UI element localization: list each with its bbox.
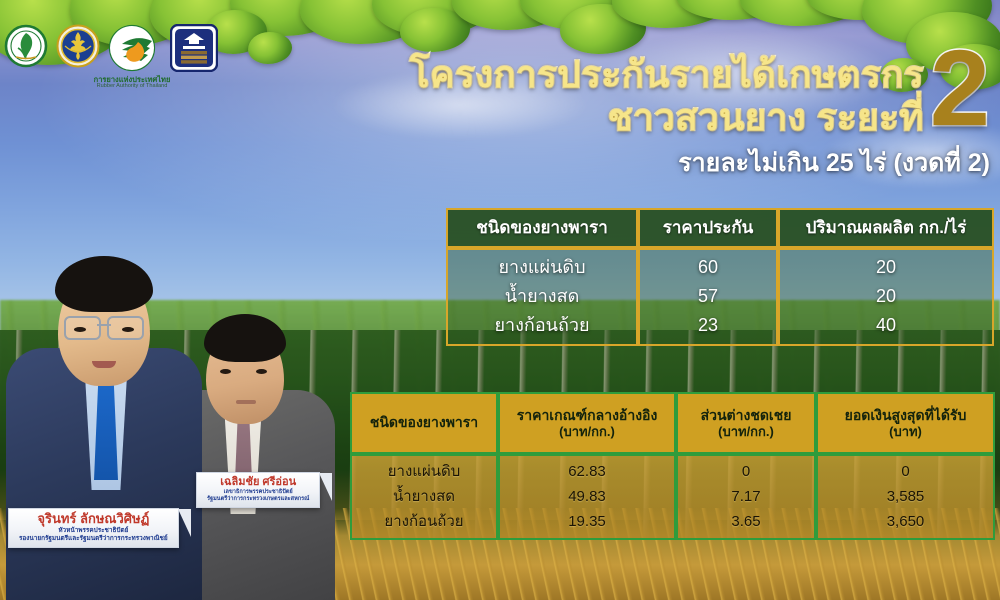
table-cell: 19.35 (568, 513, 606, 531)
table-cell: 20 (876, 286, 896, 308)
header-line-1: ราคาเกณฑ์กลางอ้างอิง (517, 407, 658, 424)
table-cell: ยางก้อนถ้วย (494, 315, 589, 337)
headline-line-1: โครงการประกันรายได้เกษตรกร (410, 54, 924, 95)
headline-line-2: ชาวสวนยาง ระยะที่ (608, 97, 924, 138)
baac-bank-logo (170, 24, 218, 72)
header-line-1: ชนิดของยางพารา (370, 414, 478, 431)
table1-col-type: ยางแผ่นดิบ น้ำยางสด ยางก้อนถ้วย (446, 248, 638, 346)
table-cell: 62.83 (568, 463, 606, 481)
table1-col-price: 60 57 23 (638, 248, 778, 346)
table1-header-type: ชนิดของยางพารา (446, 208, 638, 248)
rubber-authority-logo: การยางแห่งประเทศไทย Rubber Authority of … (108, 24, 156, 72)
table-cell: 40 (876, 315, 896, 337)
official-role-line-2: รัฐมนตรีว่าการกระทรวงเกษตรและสหกรณ์ (207, 496, 309, 503)
header-line-2: (บาท) (889, 424, 922, 440)
headline-subtitle: รายละไม่เกิน 25 ไร่ (งวดที่ 2) (410, 143, 990, 183)
header-line-1: ส่วนต่างชดเชย (701, 407, 792, 424)
nameplate-chalermchai: เฉลิมชัย ศรีอ่อน เลขาธิการพรรคประชาธิปัต… (196, 472, 320, 508)
table-body: ยางแผ่นดิบ น้ำยางสด ยางก้อนถ้วย 60 57 23… (446, 248, 994, 346)
table-cell: น้ำยางสด (393, 488, 455, 506)
table1-col-yield: 20 20 40 (778, 248, 994, 346)
table-cell: ยางก้อนถ้วย (384, 513, 463, 531)
agency-logo-row: การยางแห่งประเทศไทย Rubber Authority of … (4, 24, 218, 72)
rubber-authority-caption: การยางแห่งประเทศไทย Rubber Authority of … (72, 76, 192, 90)
table-cell: 60 (698, 257, 718, 279)
table-cell: 7.17 (731, 488, 760, 506)
table1-header-price: ราคาประกัน (638, 208, 778, 248)
table-cell: ยางแผ่นดิบ (498, 257, 585, 279)
official-name: จุรินทร์ ลักษณวิศิษฏ์ (19, 512, 168, 527)
compensation-table: ชนิดของยางพารา ราคาเกณฑ์กลางอ้างอิง (บาท… (350, 392, 995, 540)
table-header-row: ชนิดของยางพารา ราคาประกัน ปริมาณผลผลิต ก… (446, 208, 994, 248)
table-cell: ยางแผ่นดิบ (388, 463, 461, 481)
table2-header-max-payout: ยอดเงินสูงสุดที่ได้รับ (บาท) (816, 392, 995, 454)
poster-canvas: การยางแห่งประเทศไทย Rubber Authority of … (0, 0, 1000, 600)
table-body: ยางแผ่นดิบ น้ำยางสด ยางก้อนถ้วย 62.83 49… (350, 454, 995, 540)
official-name: เฉลิมชัย ศรีอ่อน (207, 476, 309, 489)
header-line-1: ยอดเงินสูงสุดที่ได้รับ (845, 407, 967, 424)
table2-col-compensation: 0 7.17 3.65 (676, 454, 816, 540)
header-line-2: (บาท/กก.) (718, 424, 774, 440)
table-cell: 0 (901, 463, 909, 481)
table2-col-max-payout: 0 3,585 3,650 (816, 454, 995, 540)
table2-col-reference-price: 62.83 49.83 19.35 (498, 454, 676, 540)
table-cell: 0 (742, 463, 750, 481)
royal-thai-government-seal-logo (56, 24, 100, 68)
ministry-agriculture-green-logo (4, 24, 48, 68)
table2-header-type: ชนิดของยางพารา (350, 392, 498, 454)
guarantee-price-table: ชนิดของยางพารา ราคาประกัน ปริมาณผลผลิต ก… (446, 208, 994, 346)
table-cell: 23 (698, 315, 718, 337)
table2-col-type: ยางแผ่นดิบ น้ำยางสด ยางก้อนถ้วย (350, 454, 498, 540)
headline-block: โครงการประกันรายได้เกษตรกร ชาวสวนยาง ระย… (410, 50, 990, 183)
table-header-row: ชนิดของยางพารา ราคาเกณฑ์กลางอ้างอิง (บาท… (350, 392, 995, 454)
table2-header-reference-price: ราคาเกณฑ์กลางอ้างอิง (บาท/กก.) (498, 392, 676, 454)
official-role-line-1: เลขาธิการพรรคประชาธิปัตย์ (207, 489, 309, 496)
table-cell: น้ำยางสด (505, 286, 580, 308)
table-cell: 3,650 (887, 513, 925, 531)
header-line-2: (บาท/กก.) (559, 424, 615, 440)
table-cell: 49.83 (568, 488, 606, 506)
table-cell: 20 (876, 257, 896, 279)
table1-header-yield: ปริมาณผลผลิต กก./ไร่ (778, 208, 994, 248)
rubber-authority-caption-en: Rubber Authority of Thailand (72, 84, 192, 90)
phase-number: 2 (930, 44, 990, 133)
table2-header-compensation: ส่วนต่างชดเชย (บาท/กก.) (676, 392, 816, 454)
table-cell: 3.65 (731, 513, 760, 531)
official-role-line-2: รองนายกรัฐมนตรีและรัฐมนตรีว่าการกระทรวงพ… (19, 535, 168, 543)
official-role-line-1: หัวหน้าพรรคประชาธิปัตย์ (19, 527, 168, 535)
table-cell: 57 (698, 286, 718, 308)
table-cell: 3,585 (887, 488, 925, 506)
nameplate-jurin: จุรินทร์ ลักษณวิศิษฏ์ หัวหน้าพรรคประชาธิ… (8, 508, 179, 548)
